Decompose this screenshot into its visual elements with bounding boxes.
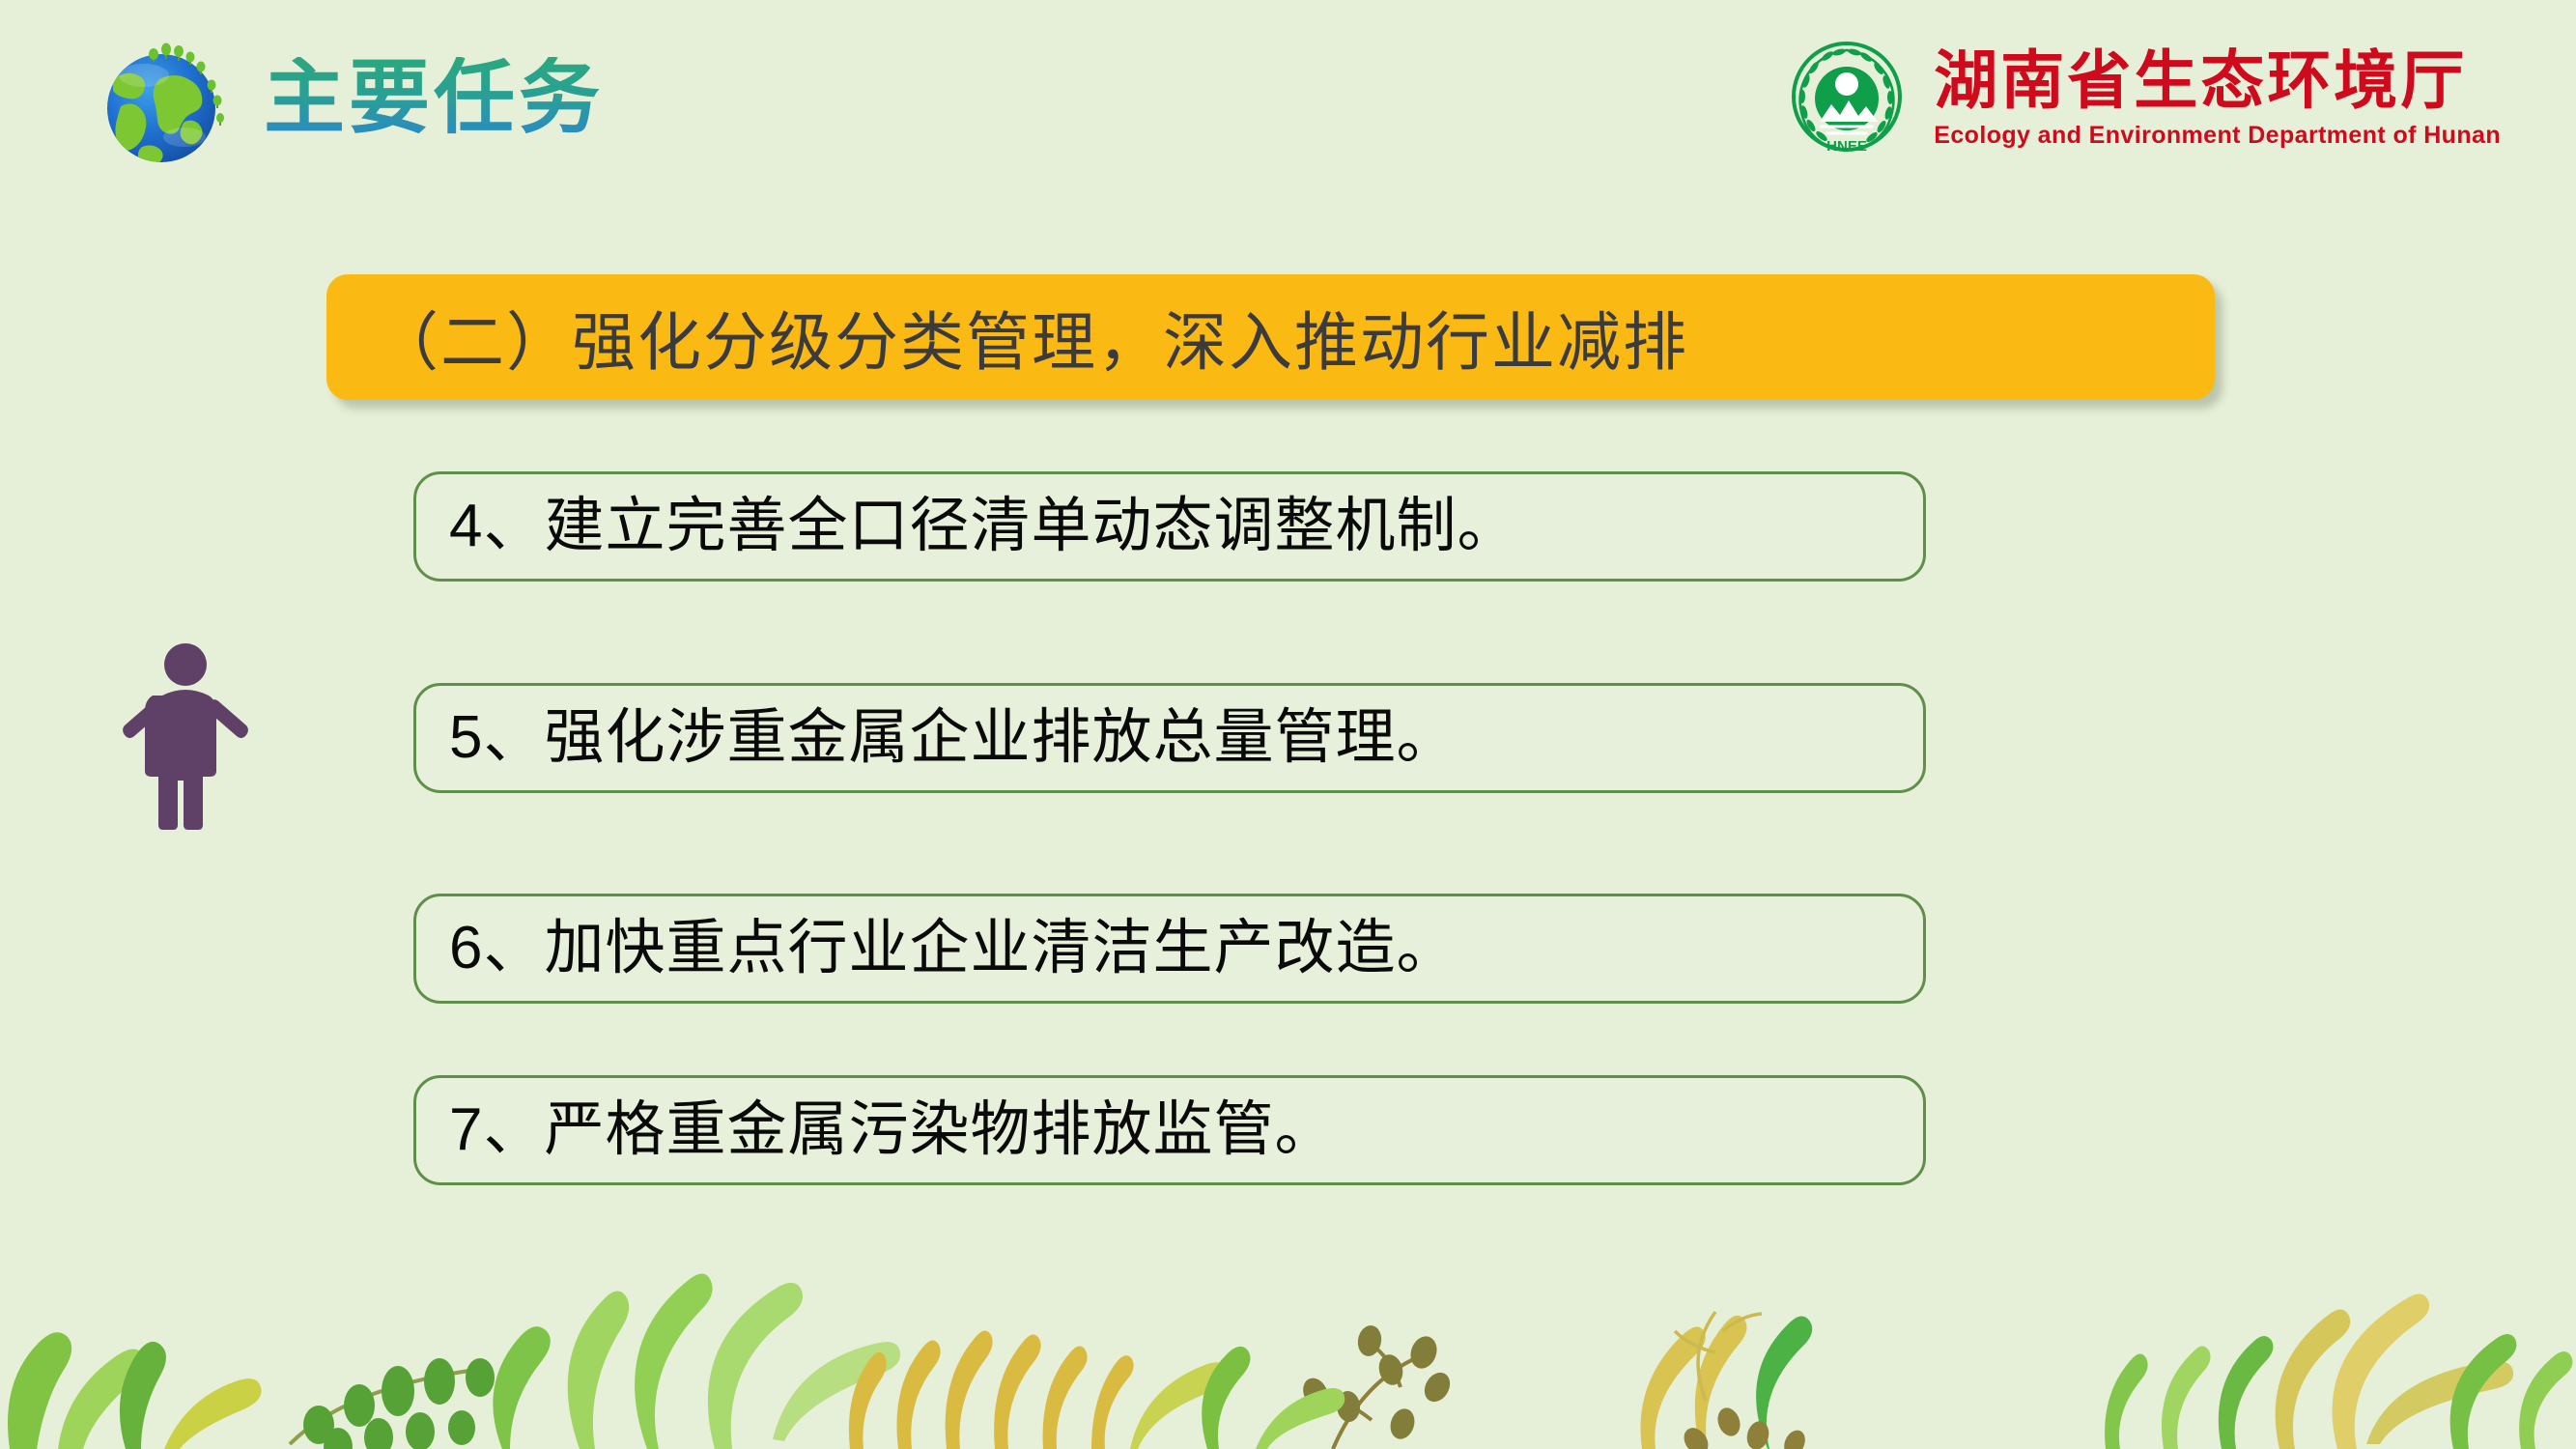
task-item-box[interactable]: 5、强化涉重金属企业排放总量管理。 — [413, 683, 1926, 793]
slide-canvas: 主要任务 — [0, 0, 2576, 1449]
org-name-cn: 湖南省生态环境厅 — [1934, 47, 2467, 114]
task-item-text: 4、建立完善全口径清单动态调整机制。 — [416, 494, 1517, 559]
emblem-acronym: HNEE — [1826, 138, 1867, 155]
person-arms-raised-icon — [108, 638, 263, 831]
task-item-box[interactable]: 6、加快重点行业企业清洁生产改造。 — [413, 894, 1926, 1004]
task-item-text: 5、强化涉重金属企业排放总量管理。 — [416, 705, 1457, 771]
slide-header-left: 主要任务 — [92, 29, 604, 174]
emblem-sun-icon — [1835, 72, 1858, 96]
org-name-en: Ecology and Environment Department of Hu… — [1934, 122, 2501, 150]
task-item-text: 7、严格重金属污染物排放监管。 — [416, 1097, 1335, 1163]
section-banner: （二）强化分级分类管理，深入推动行业减排 — [326, 274, 2215, 400]
org-logo-block: HNEE 湖南省生态环境厅 Ecology and Environment De… — [1785, 37, 2501, 160]
section-banner-text: （二）强化分级分类管理，深入推动行业减排 — [326, 291, 1688, 384]
page-title: 主要任务 — [264, 57, 604, 146]
task-item-box[interactable]: 4、建立完善全口径清单动态调整机制。 — [413, 471, 1926, 582]
earth-globe-icon — [92, 29, 237, 174]
hnee-emblem-icon: HNEE — [1785, 37, 1909, 160]
task-item-box[interactable]: 7、严格重金属污染物排放监管。 — [413, 1075, 1926, 1185]
task-item-text: 6、加快重点行业企业清洁生产改造。 — [416, 916, 1457, 981]
foliage-decoration — [0, 1198, 2576, 1449]
org-text-block: 湖南省生态环境厅 Ecology and Environment Departm… — [1934, 47, 2501, 150]
